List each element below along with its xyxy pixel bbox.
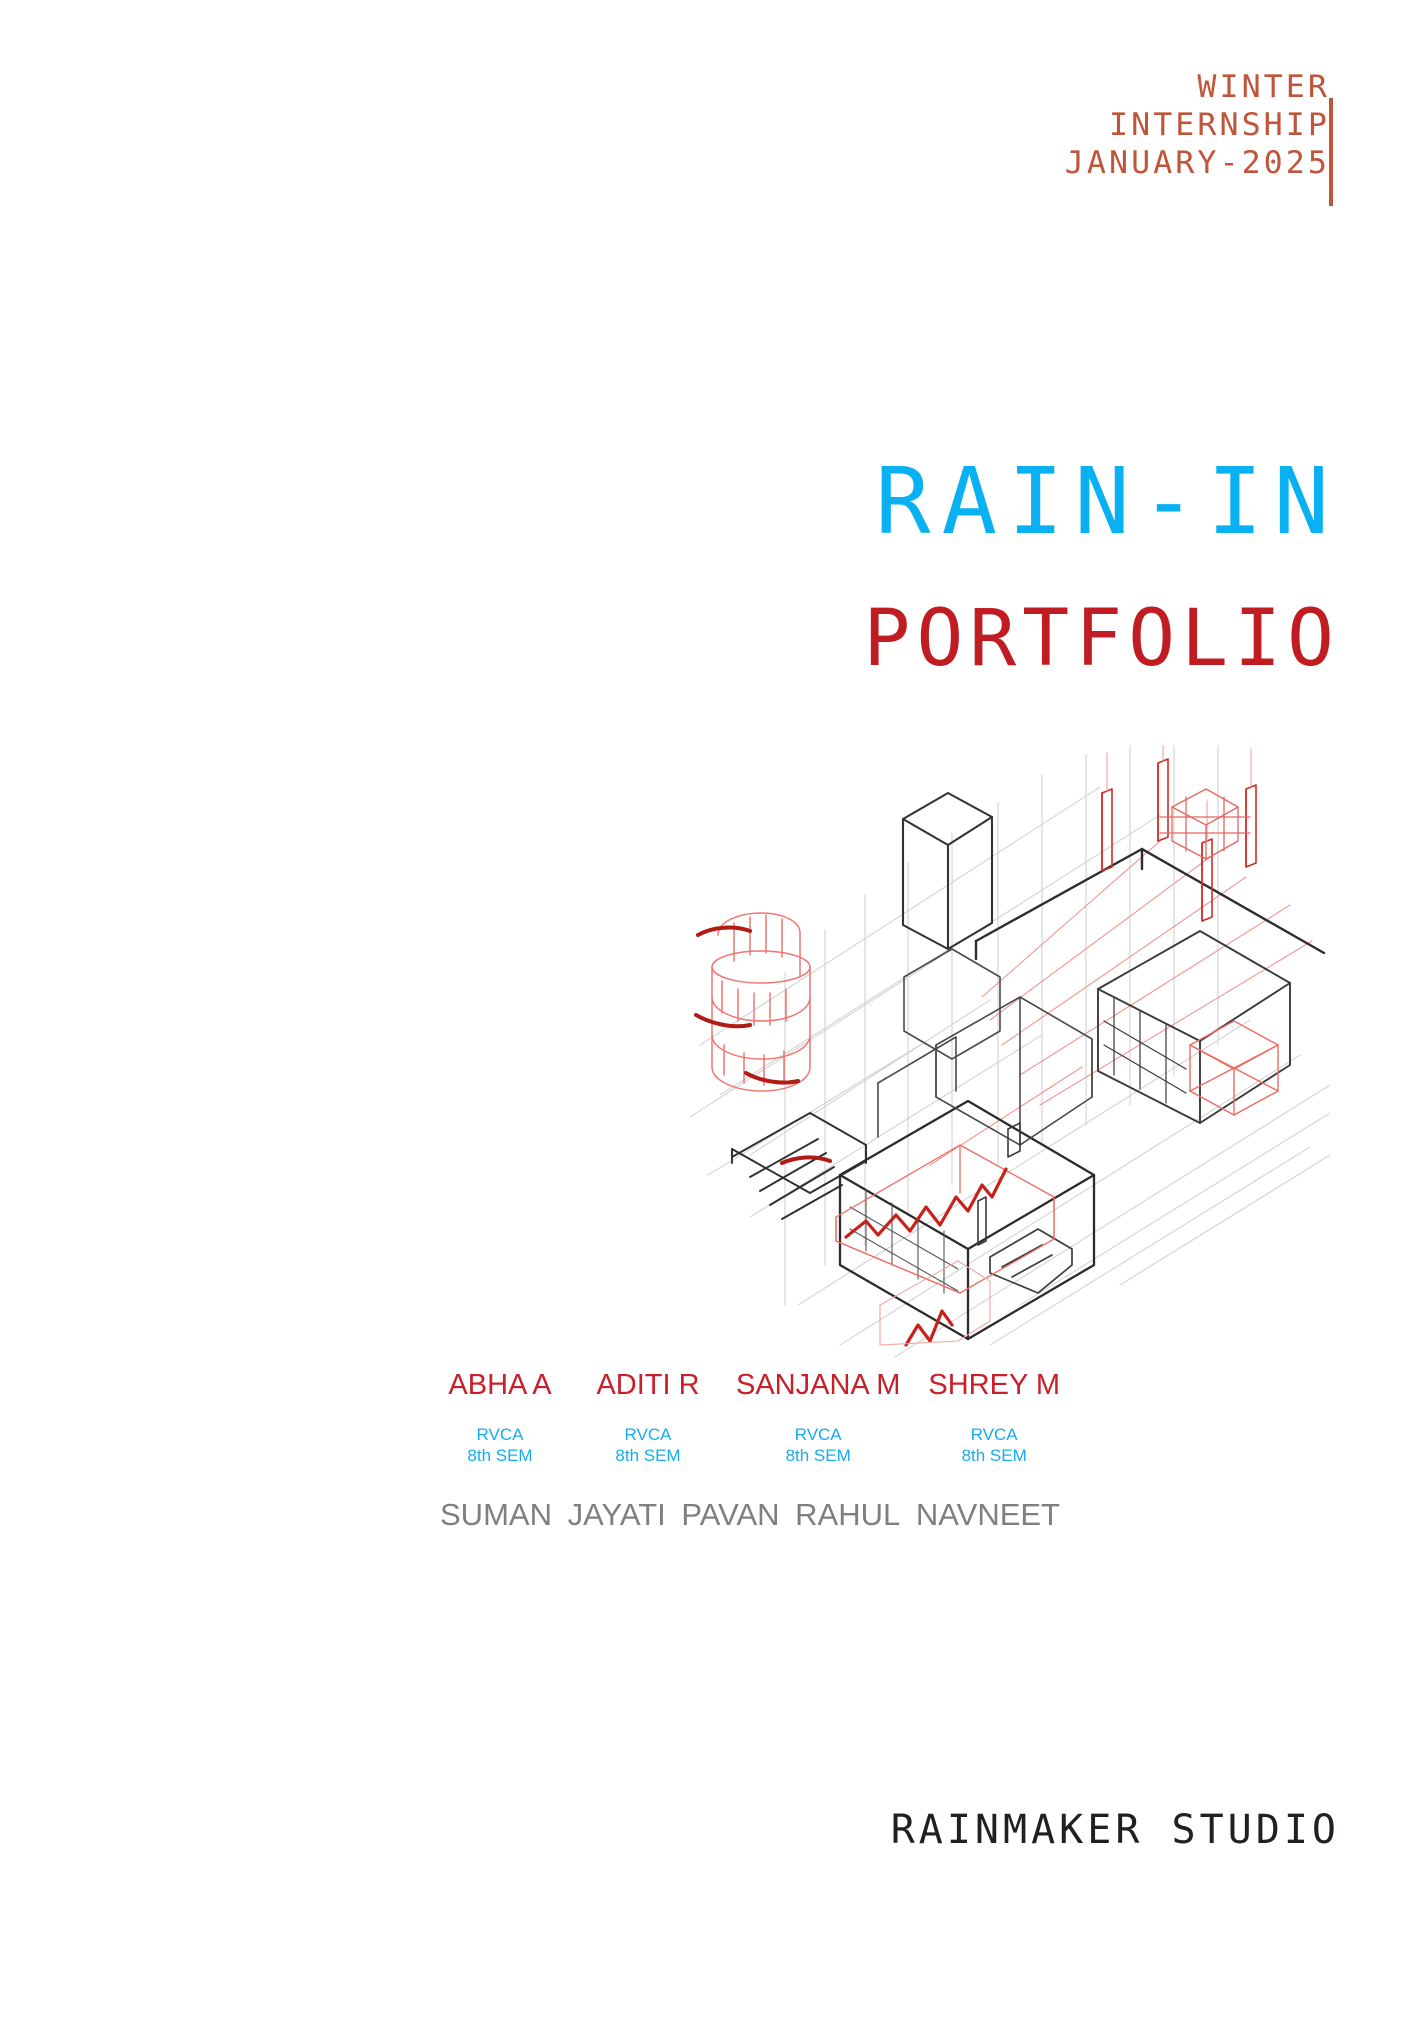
- student-name: SHREY M: [928, 1368, 1060, 1402]
- header-vertical-rule: [1329, 98, 1333, 206]
- side-platform: [990, 1229, 1072, 1293]
- student-school: RVCA: [440, 1424, 560, 1445]
- portfolio-cover-page: WINTER INTERNSHIP JANUARY-2025 RAIN-IN P…: [0, 0, 1428, 2028]
- mentor-name-0: SUMAN: [440, 1496, 552, 1534]
- header-event-block: WINTER INTERNSHIP JANUARY-2025: [1070, 68, 1330, 182]
- student-semester: 8th SEM: [440, 1445, 560, 1466]
- header-line-date: JANUARY-2025: [1065, 144, 1330, 182]
- student-name: SANJANA M: [736, 1368, 900, 1402]
- sketch-svg: [690, 745, 1330, 1365]
- accent-projection-rays: [930, 841, 1312, 1165]
- tower-volume: [903, 793, 992, 949]
- mentor-credits-row: SUMAN JAYATI PAVAN RAHUL NAVNEET: [440, 1496, 1060, 1534]
- student-school: RVCA: [736, 1424, 900, 1445]
- page-subtitle: PORTFOLIO: [0, 595, 1340, 683]
- mentor-name-1: JAYATI: [568, 1496, 666, 1534]
- student-school: RVCA: [928, 1424, 1060, 1445]
- student-name: ADITI R: [588, 1368, 708, 1402]
- student-name: ABHA A: [440, 1368, 560, 1402]
- student-credit-0: ABHA A RVCA 8th SEM: [440, 1368, 560, 1466]
- student-school: RVCA: [588, 1424, 708, 1445]
- red-wireframe-cube: [1190, 1021, 1278, 1115]
- student-semester: 8th SEM: [736, 1445, 900, 1466]
- page-title: RAIN-IN: [0, 452, 1340, 552]
- student-semester: 8th SEM: [588, 1445, 708, 1466]
- student-credits-row: ABHA A RVCA 8th SEM ADITI R RVCA 8th SEM…: [440, 1368, 1060, 1466]
- student-credit-2: SANJANA M RVCA 8th SEM: [736, 1368, 900, 1466]
- spiral-stair-accent: [712, 913, 810, 1091]
- architectural-sketch-illustration: [690, 745, 1330, 1365]
- header-line-program: INTERNSHIP: [1065, 106, 1330, 144]
- header-line-season: WINTER: [1065, 68, 1330, 106]
- right-wing: [1098, 931, 1290, 1123]
- entry-steps: [732, 1113, 866, 1219]
- guide-lines: [690, 745, 1330, 1357]
- mentor-name-3: RAHUL: [795, 1496, 900, 1534]
- mentor-name-4: NAVNEET: [916, 1496, 1060, 1534]
- interior-partitions: [878, 949, 1092, 1145]
- mentor-name-2: PAVAN: [681, 1496, 779, 1534]
- floating-columns-accent: [1102, 759, 1256, 921]
- window-grid: [850, 1189, 958, 1293]
- student-credit-1: ADITI R RVCA 8th SEM: [588, 1368, 708, 1466]
- student-credit-3: SHREY M RVCA 8th SEM: [928, 1368, 1060, 1466]
- studio-logo-text: RAINMAKER STUDIO: [0, 1805, 1340, 1855]
- floating-columns-extension: [1107, 745, 1251, 841]
- roof-slab: [976, 827, 1330, 1023]
- student-semester: 8th SEM: [928, 1445, 1060, 1466]
